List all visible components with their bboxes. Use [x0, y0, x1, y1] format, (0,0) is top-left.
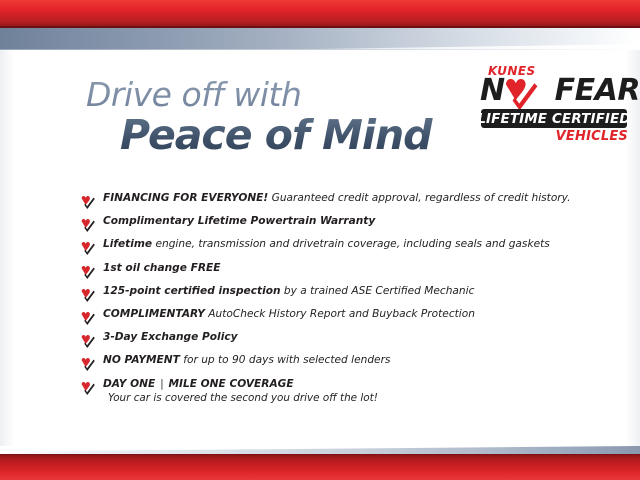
benefit-text: COMPLIMENTARY AutoCheck History Report a… — [103, 308, 475, 321]
heart-check-icon — [80, 264, 97, 279]
benefit-text-block: 3-Day Exchange Policy — [103, 331, 238, 344]
logo-letter-n: N — [480, 73, 505, 108]
benefit-text: NO PAYMENT for up to 90 days with select… — [103, 354, 390, 367]
benefit-text-block: 1st oil change FREE — [103, 262, 221, 275]
benefit-detail: AutoCheck History Report and Buyback Pro… — [205, 308, 475, 320]
benefit-item: Lifetime engine, transmission and drivet… — [80, 238, 580, 255]
benefit-detail: Guaranteed credit approval, regardless o… — [268, 192, 570, 204]
heart-check-icon — [80, 380, 97, 395]
benefit-text-block: COMPLIMENTARY AutoCheck History Report a… — [103, 308, 475, 321]
heart-check-icon — [80, 356, 97, 371]
peace-of-mind-ad-banner: Drive off with Peace of Mind KUNES NOOFE… — [0, 0, 640, 480]
benefit-item: Complimentary Lifetime Powertrain Warran… — [80, 215, 580, 232]
benefit-text: 3-Day Exchange Policy — [103, 331, 238, 344]
benefit-item: FINANCING FOR EVERYONE! Guaranteed credi… — [80, 192, 580, 209]
benefit-headline: NO PAYMENT — [103, 354, 180, 366]
benefit-text-block: Lifetime engine, transmission and drivet… — [103, 238, 550, 251]
benefit-item: 125-point certified inspection by a trai… — [80, 285, 580, 302]
benefit-item: NO PAYMENT for up to 90 days with select… — [80, 354, 580, 371]
top-silver-band-edge — [0, 49, 640, 50]
kunes-no-fear-logo: KUNES NOOFEAR LIFETIME CERTIFIED VEHICLE… — [478, 64, 630, 148]
benefit-headline: Lifetime — [103, 238, 152, 250]
top-red-band — [0, 0, 640, 27]
left-edge-shading — [0, 50, 14, 446]
benefit-item: DAY ONE | MILE ONE COVERAGEYour car is c… — [80, 378, 580, 405]
heart-check-icon — [80, 217, 97, 232]
heart-check-icon — [80, 380, 97, 395]
heart-check-icon — [80, 240, 97, 255]
heart-check-icon — [80, 217, 97, 232]
benefit-headline-secondary: MILE ONE COVERAGE — [169, 378, 294, 390]
benefit-headline: FINANCING FOR EVERYONE! — [103, 192, 268, 204]
logo-o-placeholder: OO — [505, 73, 555, 108]
logo-fear-text: FEAR — [555, 73, 640, 108]
benefit-subline: Your car is covered the second you drive… — [108, 392, 378, 404]
benefit-detail: engine, transmission and drivetrain cove… — [152, 238, 550, 250]
heart-check-icon — [80, 356, 97, 371]
headline-line-1: Drive off with — [86, 78, 466, 113]
benefit-headline: COMPLIMENTARY — [103, 308, 205, 320]
benefit-detail: by a trained ASE Certified Mechanic — [281, 285, 475, 297]
benefit-headline: DAY ONE — [103, 378, 155, 390]
benefit-headline: Complimentary Lifetime Powertrain Warran… — [103, 215, 375, 227]
benefit-text: 1st oil change FREE — [103, 262, 221, 275]
heart-check-icon — [80, 240, 97, 255]
heart-check-icon — [80, 333, 97, 348]
heart-check-icon — [80, 287, 97, 302]
benefit-text: 125-point certified inspection by a trai… — [103, 285, 474, 298]
benefit-text: DAY ONE | MILE ONE COVERAGE — [103, 378, 378, 391]
heart-check-icon — [80, 310, 97, 325]
heart-check-icon — [80, 333, 97, 348]
logo-vehicles-text: VEHICLES — [556, 129, 628, 144]
benefit-text: Lifetime engine, transmission and drivet… — [103, 238, 550, 251]
heart-check-icon — [80, 264, 97, 279]
benefit-text-block: 125-point certified inspection by a trai… — [103, 285, 474, 298]
heart-check-icon — [80, 194, 97, 209]
benefit-text-block: Complimentary Lifetime Powertrain Warran… — [103, 215, 375, 228]
benefit-text-block: NO PAYMENT for up to 90 days with select… — [103, 354, 390, 367]
benefit-text: Complimentary Lifetime Powertrain Warran… — [103, 215, 375, 228]
benefit-text: FINANCING FOR EVERYONE! Guaranteed credi… — [103, 192, 570, 205]
headline-line-2: Peace of Mind — [120, 114, 466, 157]
benefit-headline: 125-point certified inspection — [103, 285, 281, 297]
benefit-detail: for up to 90 days with selected lenders — [180, 354, 391, 366]
heart-check-icon — [80, 310, 97, 325]
heart-check-icon — [80, 287, 97, 302]
benefit-separator: | — [155, 378, 168, 390]
benefit-text-block: FINANCING FOR EVERYONE! Guaranteed credi… — [103, 192, 570, 205]
logo-lifetime-certified-band: LIFETIME CERTIFIED — [481, 109, 627, 128]
benefit-item: 1st oil change FREE — [80, 262, 580, 279]
benefit-item: 3-Day Exchange Policy — [80, 331, 580, 348]
benefit-headline: 1st oil change FREE — [103, 262, 221, 274]
benefit-item: COMPLIMENTARY AutoCheck History Report a… — [80, 308, 580, 325]
headline-block: Drive off with Peace of Mind — [86, 78, 466, 157]
bottom-red-band — [0, 455, 640, 480]
benefits-list: FINANCING FOR EVERYONE! Guaranteed credi… — [80, 192, 580, 410]
benefit-headline: 3-Day Exchange Policy — [103, 331, 238, 343]
logo-no-fear-text: NOOFEAR — [480, 76, 640, 106]
logo-band-text: LIFETIME CERTIFIED — [477, 111, 630, 127]
heart-check-icon — [80, 194, 97, 209]
benefit-text-block: DAY ONE | MILE ONE COVERAGEYour car is c… — [103, 378, 378, 405]
